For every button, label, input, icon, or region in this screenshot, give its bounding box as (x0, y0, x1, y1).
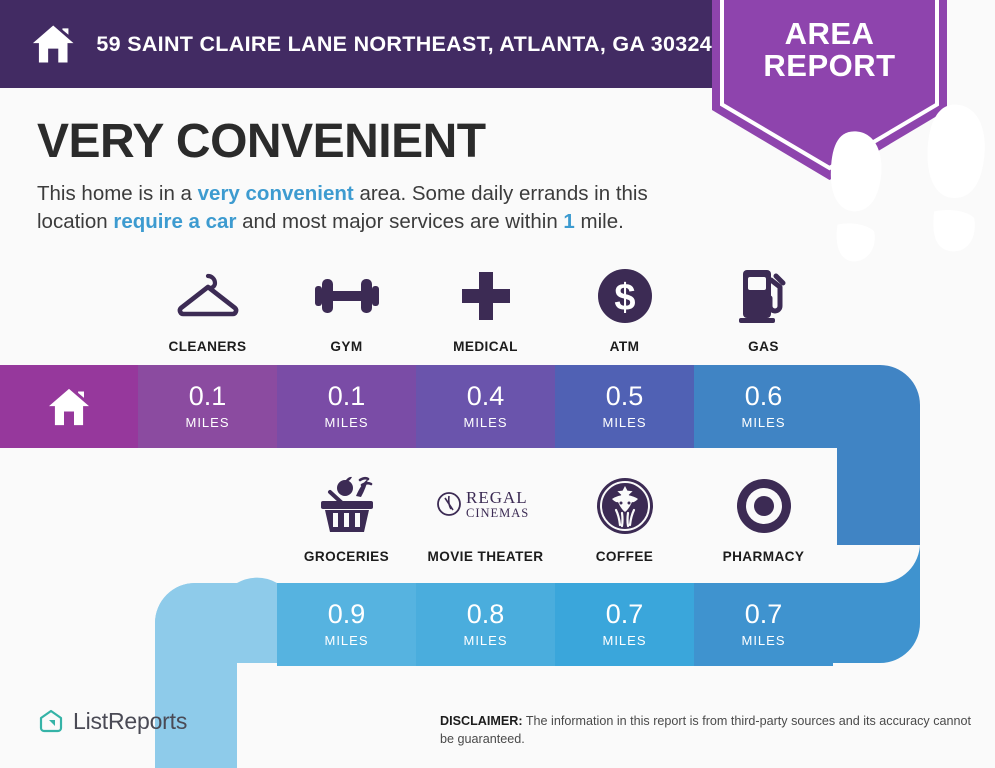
home-origin-cell (0, 365, 138, 448)
amenity-icons-row-1: CLEANERS GYM MEDICAL (138, 264, 833, 354)
summary-part-1: This home is in a (37, 182, 198, 205)
header-address: 59 SAINT CLAIRE LANE NORTHEAST, ATLANTA,… (96, 32, 712, 57)
distance-value: 0.7 (606, 601, 644, 628)
distance-value: 0.8 (467, 601, 505, 628)
badge-title: AREA REPORT (712, 18, 947, 81)
distance-unit: MILES (602, 633, 646, 648)
distance-unit: MILES (185, 415, 229, 430)
distance-unit: MILES (463, 633, 507, 648)
starbucks-logo (596, 474, 654, 538)
page-title: VERY CONVENIENT (37, 114, 486, 169)
listreports-wordmark: ListReports (73, 708, 187, 735)
badge-line-2: REPORT (712, 50, 947, 82)
distance-cell: 0.1 MILES (277, 365, 416, 448)
dumbbell-icon (313, 264, 381, 328)
distance-cell: 0.5 MILES (555, 365, 694, 448)
summary-highlight-convenient: very convenient (198, 182, 354, 205)
distance-unit: MILES (324, 633, 368, 648)
summary-highlight-distance: 1 (563, 210, 574, 233)
badge-line-1: AREA (785, 16, 875, 51)
summary-part-3: and most major services are within (236, 210, 563, 233)
home-icon (32, 22, 74, 66)
amenity-label: GYM (330, 339, 362, 354)
amenity-label: GAS (748, 339, 779, 354)
distance-cell: 0.1 MILES (138, 365, 277, 448)
amenity-movie-theater: REGAL CINEMAS MOVIE THEATER (416, 474, 555, 564)
header-bar: 59 SAINT CLAIRE LANE NORTHEAST, ATLANTA,… (0, 0, 712, 88)
disclaimer: DISCLAIMER: The information in this repo… (440, 712, 985, 749)
distance-value: 0.1 (189, 383, 227, 410)
svg-text:CINEMAS: CINEMAS (466, 506, 529, 520)
disclaimer-label: DISCLAIMER: (440, 714, 523, 728)
area-report-infographic: 59 SAINT CLAIRE LANE NORTHEAST, ATLANTA,… (0, 0, 995, 768)
regal-cinemas-logo: REGAL CINEMAS (434, 474, 538, 538)
distance-value: 0.4 (467, 383, 505, 410)
amenity-gas: GAS (694, 264, 833, 354)
amenity-label: PHARMACY (723, 549, 805, 564)
amenity-label: ATM (610, 339, 640, 354)
summary-text: This home is in a very convenient area. … (37, 180, 717, 237)
amenity-label: MOVIE THEATER (428, 549, 544, 564)
amenity-pharmacy: PHARMACY (694, 474, 833, 564)
amenity-gym: GYM (277, 264, 416, 354)
distance-unit: MILES (741, 633, 785, 648)
distance-value: 0.9 (328, 601, 366, 628)
distance-value: 0.6 (745, 383, 783, 410)
distance-unit: MILES (741, 415, 785, 430)
distance-cell: 0.8 MILES (416, 583, 555, 666)
distance-unit: MILES (602, 415, 646, 430)
summary-highlight-car: require a car (113, 210, 236, 233)
gas-pump-icon (738, 264, 790, 328)
svg-text:$: $ (614, 277, 635, 319)
listreports-home-pin-icon (38, 709, 64, 735)
distance-cell: 0.7 MILES (555, 583, 694, 666)
distance-values-row-2: 0.9 MILES 0.8 MILES 0.7 MILES 0.7 MILES (277, 583, 833, 666)
home-icon (47, 387, 91, 427)
amenity-label: COFFEE (596, 549, 654, 564)
target-bullseye-logo (735, 474, 793, 538)
clothes-hanger-icon (177, 264, 239, 328)
distance-cell: 0.7 MILES (694, 583, 833, 666)
listreports-brand[interactable]: ListReports (38, 708, 187, 735)
medical-cross-icon (460, 264, 512, 328)
svg-text:REGAL: REGAL (466, 488, 528, 507)
grocery-basket-icon (316, 474, 378, 538)
dollar-circle-icon: $ (597, 264, 653, 328)
distance-unit: MILES (463, 415, 507, 430)
amenity-label: GROCERIES (304, 549, 389, 564)
footprints-icon (800, 98, 995, 278)
amenity-medical: MEDICAL (416, 264, 555, 354)
distance-value: 0.1 (328, 383, 366, 410)
summary-part-4: mile. (575, 210, 624, 233)
area-report-badge: AREA REPORT (712, 0, 947, 180)
distance-cell: 0.4 MILES (416, 365, 555, 448)
distance-cell: 0.6 MILES (694, 365, 833, 448)
distance-value: 0.7 (745, 601, 783, 628)
amenity-atm: $ ATM (555, 264, 694, 354)
distance-cell: 0.9 MILES (277, 583, 416, 666)
amenity-cleaners: CLEANERS (138, 264, 277, 354)
amenity-groceries: GROCERIES (277, 474, 416, 564)
distance-values-row-1: 0.1 MILES 0.1 MILES 0.4 MILES 0.5 MILES … (138, 365, 833, 448)
amenity-label: MEDICAL (453, 339, 518, 354)
distance-unit: MILES (324, 415, 368, 430)
amenity-icons-row-2: GROCERIES REGAL CINEMAS MOVIE THEATER (277, 474, 833, 564)
amenity-coffee: COFFEE (555, 474, 694, 564)
amenity-label: CLEANERS (169, 339, 247, 354)
distance-value: 0.5 (606, 383, 644, 410)
